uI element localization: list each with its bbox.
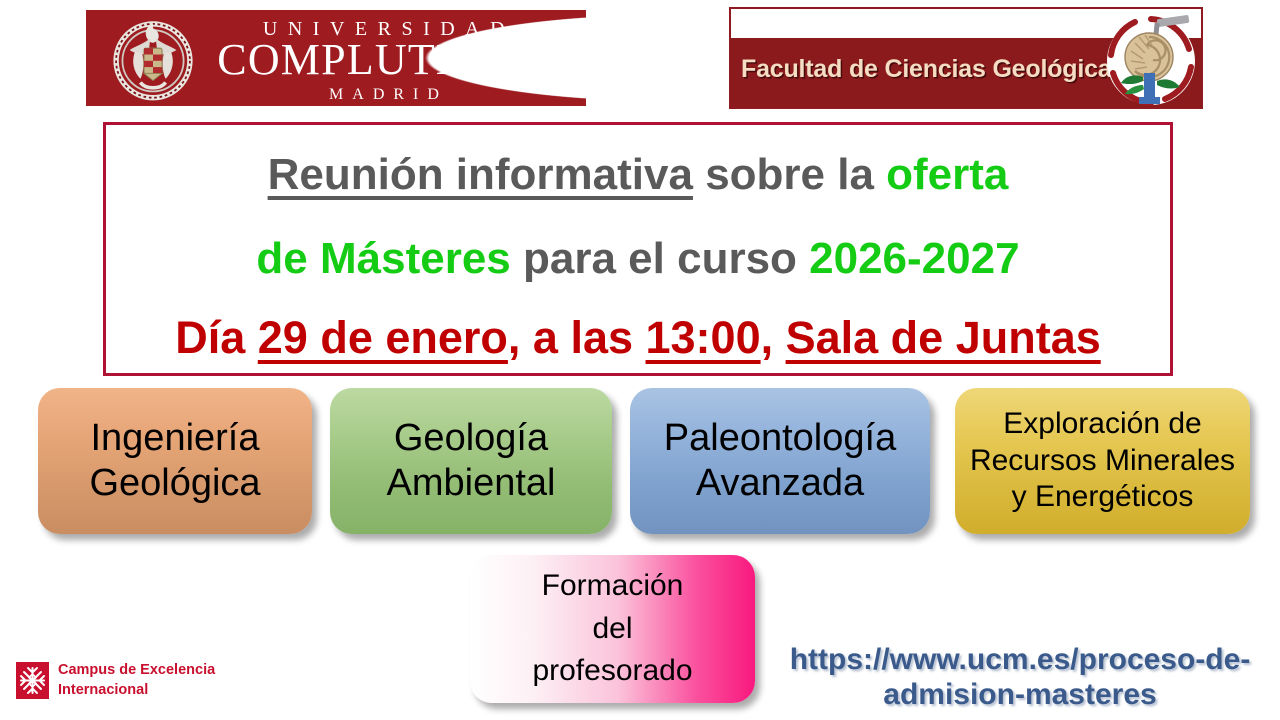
campus-excelencia-line-1: Campus de Excelencia bbox=[58, 660, 215, 680]
ucm-line-complutense: COMPLUTENSE bbox=[214, 38, 554, 83]
master-box-line-1: Exploración de bbox=[1003, 407, 1201, 440]
campus-excelencia-text: Campus de Excelencia Internacional bbox=[58, 660, 215, 700]
campus-excelencia-logo: Campus de Excelencia Internacional bbox=[16, 660, 215, 700]
announcement-line2-part2: para el curso bbox=[511, 234, 809, 283]
announcement-line1-part2: sobre la bbox=[693, 150, 886, 199]
announcement-line2-part3: 2026-2027 bbox=[809, 234, 1019, 283]
ucm-line-madrid: MADRID bbox=[214, 85, 554, 106]
admission-url-line-2: admision-masteres bbox=[883, 678, 1156, 711]
master-box-label: Geología Ambiental bbox=[330, 416, 612, 506]
announcement-line2-part1: de Másteres bbox=[256, 234, 510, 283]
master-box-line-2: Avanzada bbox=[696, 462, 864, 504]
master-box-formacion-profesorado[interactable]: Formación del profesorado bbox=[470, 555, 755, 703]
ucm-banner: UNIVERSIDAD COMPLUTENSE MADRID bbox=[86, 10, 586, 106]
announcement-line3-part6: Sala de Juntas bbox=[786, 312, 1101, 363]
announcement-line3-part4: 13:00 bbox=[646, 312, 761, 363]
master-box-label: Formación del profesorado bbox=[470, 565, 755, 693]
faculty-banner: Facultad de Ciencias Geológicas bbox=[729, 7, 1203, 109]
master-box-line-2: Geológica bbox=[89, 462, 260, 504]
ucm-wordmark: UNIVERSIDAD COMPLUTENSE MADRID bbox=[214, 18, 554, 106]
faculty-banner-title: Facultad de Ciencias Geológicas bbox=[741, 55, 1125, 84]
announcement-line3-part1: Día bbox=[175, 312, 258, 363]
master-box-line-2: Ambiental bbox=[387, 462, 556, 504]
master-box-label: Exploración de Recursos Minerales y Ener… bbox=[955, 406, 1250, 516]
master-box-line-3: profesorado bbox=[532, 654, 692, 687]
announcement-line-1: Reunión informativa sobre la oferta bbox=[116, 151, 1160, 199]
announcement-line-3: Día 29 de enero, a las 13:00, Sala de Ju… bbox=[116, 314, 1160, 363]
announcement-line1-part3: oferta bbox=[886, 150, 1008, 199]
announcement-line1-part1: Reunión informativa bbox=[268, 150, 693, 199]
campus-excelencia-line-2: Internacional bbox=[58, 680, 215, 700]
master-box-label: Ingeniería Geológica bbox=[38, 416, 312, 506]
master-box-line-2: del bbox=[592, 612, 632, 645]
admission-url-line-1: https://www.ucm.es/proceso-de- bbox=[790, 643, 1251, 676]
announcement-box: Reunión informativa sobre la oferta de M… bbox=[103, 122, 1173, 376]
admission-url-link[interactable]: https://www.ucm.es/proceso-de- admision-… bbox=[780, 642, 1260, 713]
master-box-exploracion-recursos[interactable]: Exploración de Recursos Minerales y Ener… bbox=[955, 388, 1250, 534]
master-box-geologia-ambiental[interactable]: Geología Ambiental bbox=[330, 388, 612, 534]
master-box-line-1: Geología bbox=[394, 417, 548, 459]
master-box-ingenieria-geologica[interactable]: Ingeniería Geológica bbox=[38, 388, 312, 534]
master-box-line-1: Ingeniería bbox=[90, 417, 259, 459]
master-box-line-1: Formación bbox=[542, 569, 684, 602]
announcement-line3-part2: 29 de enero bbox=[258, 312, 508, 363]
campus-excelencia-mark-icon bbox=[16, 662, 49, 699]
announcement-line3-part5: , bbox=[761, 312, 786, 363]
master-box-line-3: y Energéticos bbox=[1012, 480, 1194, 513]
master-box-line-1: Paleontología bbox=[664, 417, 896, 459]
announcement-line-2: de Másteres para el curso 2026-2027 bbox=[116, 235, 1160, 283]
poster-canvas: UNIVERSIDAD COMPLUTENSE MADRID Facultad … bbox=[0, 0, 1280, 720]
master-box-label: Paleontología Avanzada bbox=[630, 416, 930, 506]
announcement-line3-part3: , a las bbox=[508, 312, 646, 363]
master-box-paleontologia-avanzada[interactable]: Paleontología Avanzada bbox=[630, 388, 930, 534]
master-box-line-2: Recursos Minerales bbox=[970, 444, 1235, 477]
geology-ammonite-icon bbox=[1101, 11, 1201, 109]
ucm-crest-icon bbox=[108, 14, 198, 104]
